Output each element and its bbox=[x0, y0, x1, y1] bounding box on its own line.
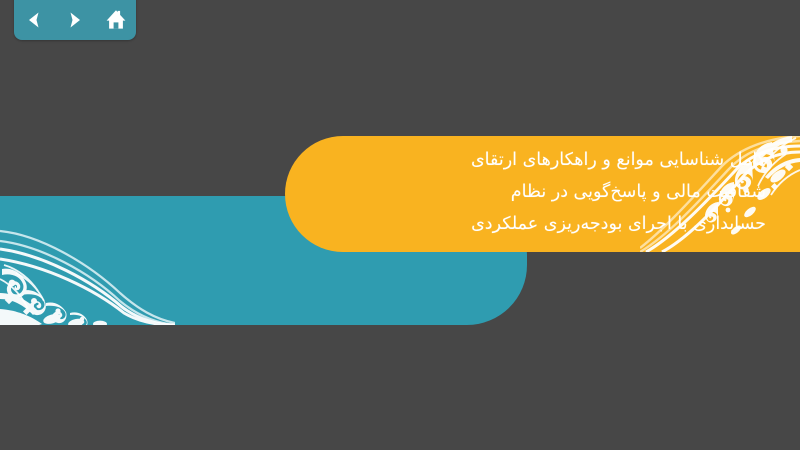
home-button[interactable] bbox=[102, 7, 130, 33]
home-icon bbox=[105, 9, 127, 31]
back-button[interactable] bbox=[20, 7, 48, 33]
title-line-3: حسابداری با اجرای بودجه‌ریزی عملکردی bbox=[366, 208, 766, 240]
forward-button[interactable] bbox=[61, 7, 89, 33]
arabesque-floral-ornament bbox=[0, 197, 175, 325]
slide-title: کامل شناسایی موانع و راهکارهای ارتقای شف… bbox=[366, 144, 766, 240]
navigation-toolbar bbox=[14, 0, 136, 40]
title-line-2: شفافیت مالی و پاسخ‌گویی در نظام bbox=[366, 176, 766, 208]
title-banner: کامل شناسایی موانع و راهکارهای ارتقای شف… bbox=[285, 136, 800, 252]
title-line-1: کامل شناسایی موانع و راهکارهای ارتقای bbox=[366, 144, 766, 176]
slide-canvas: کامل شناسایی موانع و راهکارهای ارتقای شف… bbox=[0, 0, 800, 450]
back-triangle-icon bbox=[24, 10, 44, 30]
forward-triangle-icon bbox=[65, 10, 85, 30]
